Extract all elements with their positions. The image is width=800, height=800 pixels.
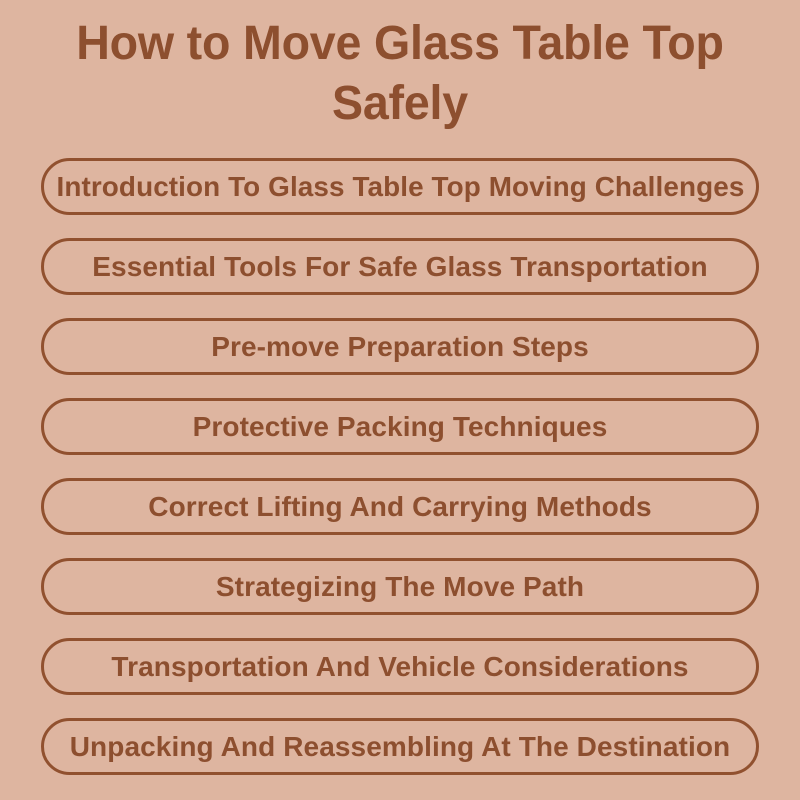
step-label-3: Pre-move Preparation Steps (211, 332, 589, 362)
step-label-4: Protective Packing Techniques (193, 412, 608, 442)
step-label-7: Transportation And Vehicle Consideration… (111, 652, 688, 682)
page-title-line-1: How to Move Glass Table Top (35, 14, 764, 74)
step-pill-4[interactable]: Protective Packing Techniques (41, 398, 759, 455)
step-pill-1[interactable]: Introduction To Glass Table Top Moving C… (41, 158, 759, 215)
infographic-canvas: How to Move Glass Table Top Safely Intro… (0, 0, 800, 800)
step-label-6: Strategizing The Move Path (216, 572, 584, 602)
step-pill-2[interactable]: Essential Tools For Safe Glass Transport… (41, 238, 759, 295)
steps-list: Introduction To Glass Table Top Moving C… (41, 158, 759, 775)
step-pill-7[interactable]: Transportation And Vehicle Consideration… (41, 638, 759, 695)
step-pill-5[interactable]: Correct Lifting And Carrying Methods (41, 478, 759, 535)
step-label-5: Correct Lifting And Carrying Methods (148, 492, 651, 522)
step-label-1: Introduction To Glass Table Top Moving C… (56, 172, 744, 202)
step-label-2: Essential Tools For Safe Glass Transport… (92, 252, 707, 282)
step-label-8: Unpacking And Reassembling At The Destin… (70, 732, 731, 762)
step-pill-6[interactable]: Strategizing The Move Path (41, 558, 759, 615)
page-title-line-2: Safely (35, 74, 764, 134)
page-title: How to Move Glass Table Top Safely (0, 14, 800, 134)
step-pill-8[interactable]: Unpacking And Reassembling At The Destin… (41, 718, 759, 775)
step-pill-3[interactable]: Pre-move Preparation Steps (41, 318, 759, 375)
